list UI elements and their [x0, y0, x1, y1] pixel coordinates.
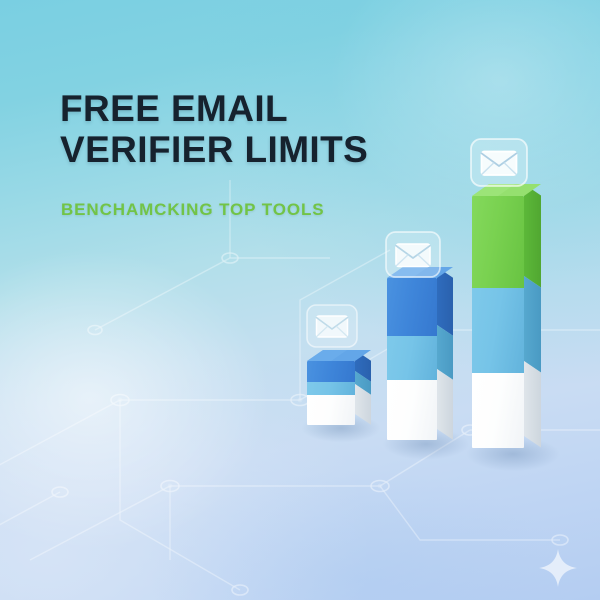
bar-2-top-segment — [387, 278, 437, 336]
bar-3-top-segment — [472, 196, 524, 288]
bar-column-3[interactable] — [472, 196, 524, 448]
envelope-icon — [470, 138, 528, 187]
bar-chart — [0, 0, 600, 600]
bar-1-front-face — [307, 361, 355, 425]
bar-3-side-face — [524, 184, 541, 447]
envelope-icon — [306, 304, 358, 348]
bar-column-2[interactable] — [387, 278, 437, 440]
bar-column-1[interactable] — [307, 361, 355, 425]
bar-2-front-face — [387, 278, 437, 440]
sparkle-icon — [538, 548, 578, 588]
bar-1-top-segment — [307, 361, 355, 382]
envelope-icon — [385, 231, 441, 278]
bar-3-mid-segment — [472, 288, 524, 373]
bar-2-base-segment — [387, 380, 437, 440]
bar-3-base-segment — [472, 373, 524, 448]
bar-3-front-face — [472, 196, 524, 448]
bar-1-mid-segment — [307, 382, 355, 395]
poster-canvas: FREE EMAIL VERIFIER LIMITS BENCHAMCKING … — [0, 0, 600, 600]
bar-2-side-face — [437, 267, 453, 440]
bar-2-mid-segment — [387, 336, 437, 380]
bar-1-base-segment — [307, 395, 355, 425]
